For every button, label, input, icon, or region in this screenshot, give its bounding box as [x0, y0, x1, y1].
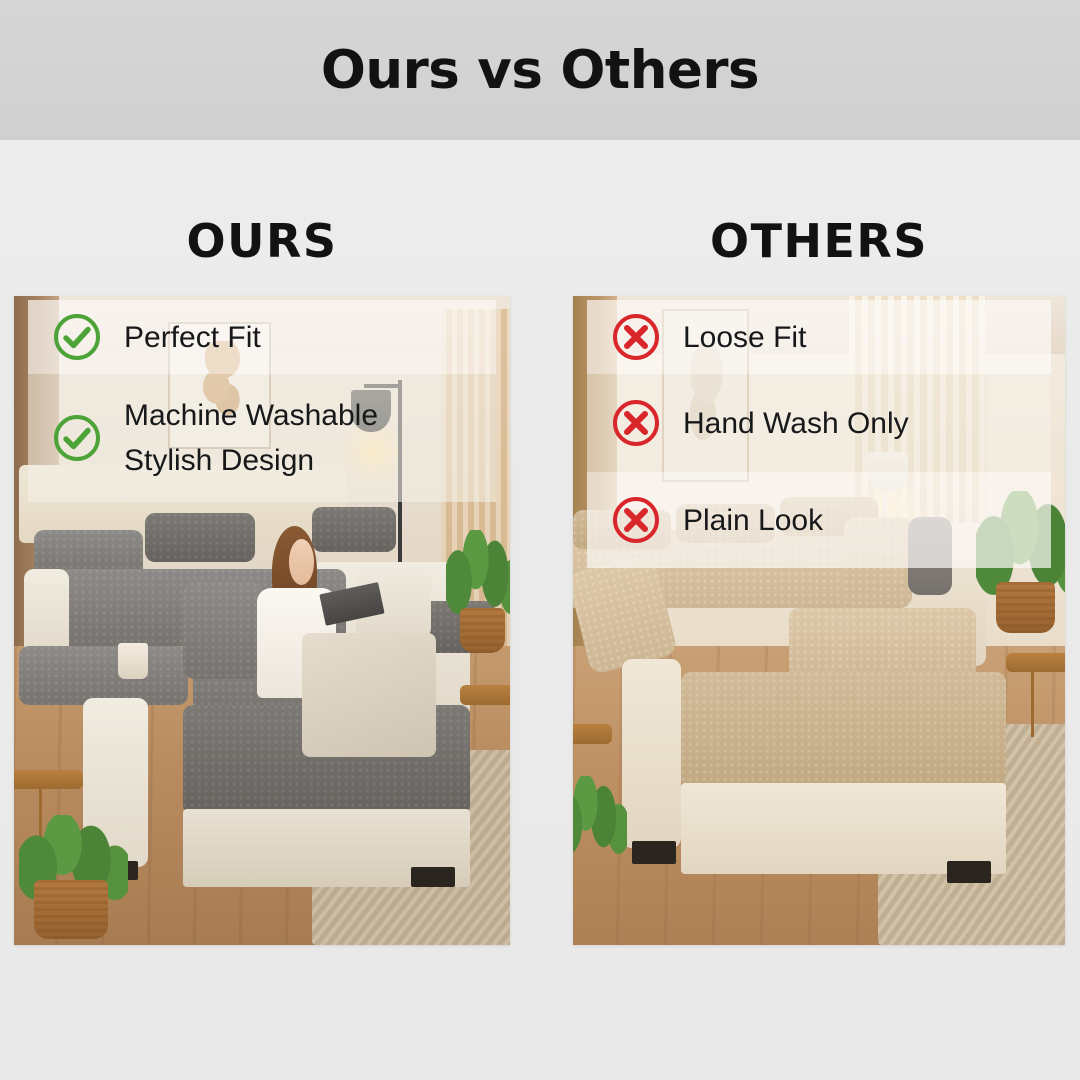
- chaise-cushion: [681, 672, 1006, 789]
- feature-labels: Plain Look: [683, 499, 823, 542]
- x-circle-icon: [611, 398, 661, 448]
- sofa-headrest-3: [312, 507, 396, 552]
- throw-pillow-gray: [183, 582, 262, 679]
- woman-blanket: [302, 633, 436, 756]
- plant-basket: [34, 880, 108, 938]
- feature-labels: Loose Fit: [683, 316, 806, 359]
- feature-row: Machine Washable Stylish Design: [28, 374, 496, 502]
- x-circle-icon: [611, 312, 661, 362]
- corner-plant-foliage: [446, 530, 510, 614]
- chaise-foot: [947, 861, 991, 884]
- sofa-headrest-2: [145, 513, 254, 562]
- feature-row: Perfect Fit: [28, 300, 496, 374]
- sofa-foot: [632, 841, 676, 864]
- coffee-table: [1006, 653, 1065, 672]
- feature-labels: Perfect Fit: [124, 316, 261, 359]
- column-heading-others: OTHERS: [573, 212, 1065, 270]
- comparison-infographic: Ours vs Others OURS OTHERS: [0, 0, 1080, 1080]
- feature-row: Hand Wash Only: [587, 374, 1051, 472]
- chaise-foot: [411, 867, 456, 886]
- ours-feature-overlay: Perfect Fit Machine Washable Stylish Des…: [28, 300, 496, 502]
- feature-label: Perfect Fit: [124, 316, 261, 359]
- others-feature-overlay: Loose Fit Hand Wash Only: [587, 300, 1051, 568]
- feature-labels: Machine Washable Stylish Design: [124, 394, 378, 482]
- x-circle-icon: [611, 495, 661, 545]
- feature-label: Plain Look: [683, 499, 823, 542]
- chaise-arm: [622, 659, 681, 847]
- corner-plant-foliage: [573, 776, 627, 854]
- page-title: Ours vs Others: [0, 41, 1080, 101]
- feature-label: Hand Wash Only: [683, 402, 909, 445]
- corner-plant-pot: [460, 608, 505, 653]
- coffee-table: [460, 685, 510, 704]
- feature-row: Plain Look: [587, 472, 1051, 568]
- feature-labels: Hand Wash Only: [683, 402, 909, 445]
- check-circle-icon: [52, 312, 102, 362]
- ours-photo-panel: Perfect Fit Machine Washable Stylish Des…: [14, 296, 510, 945]
- coffee-table-leg: [1031, 672, 1034, 737]
- feature-label: Stylish Design: [124, 439, 378, 482]
- feature-row: Loose Fit: [587, 300, 1051, 374]
- feature-label: Loose Fit: [683, 316, 806, 359]
- side-table: [14, 770, 83, 789]
- column-heading-ours: OURS: [14, 212, 510, 270]
- sofa-seat-left: [19, 646, 188, 704]
- check-circle-icon: [52, 413, 102, 463]
- coffee-mug: [118, 643, 148, 679]
- chaise-base: [681, 783, 1006, 874]
- feature-label: Machine Washable: [124, 394, 378, 437]
- others-photo-panel: Loose Fit Hand Wash Only: [573, 296, 1065, 945]
- side-table: [573, 724, 612, 743]
- woman-face: [289, 539, 314, 584]
- palm-plant-basket: [996, 582, 1055, 634]
